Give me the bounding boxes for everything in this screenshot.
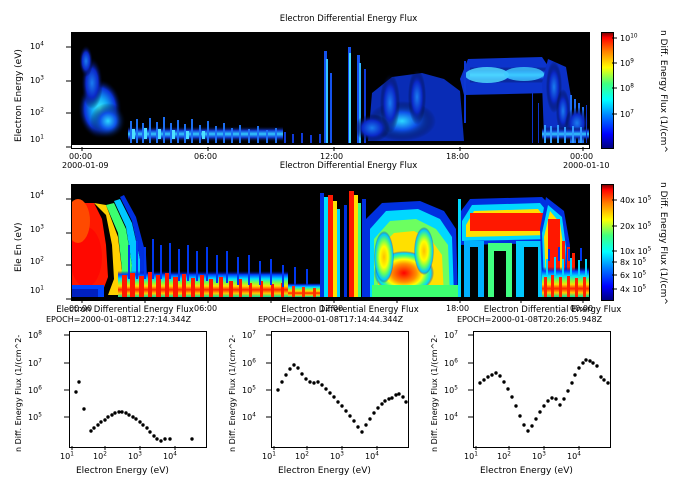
- tick-marks-overlay: [0, 0, 697, 492]
- figure-canvas: Electron Differential Energy Flux Electr…: [0, 0, 697, 492]
